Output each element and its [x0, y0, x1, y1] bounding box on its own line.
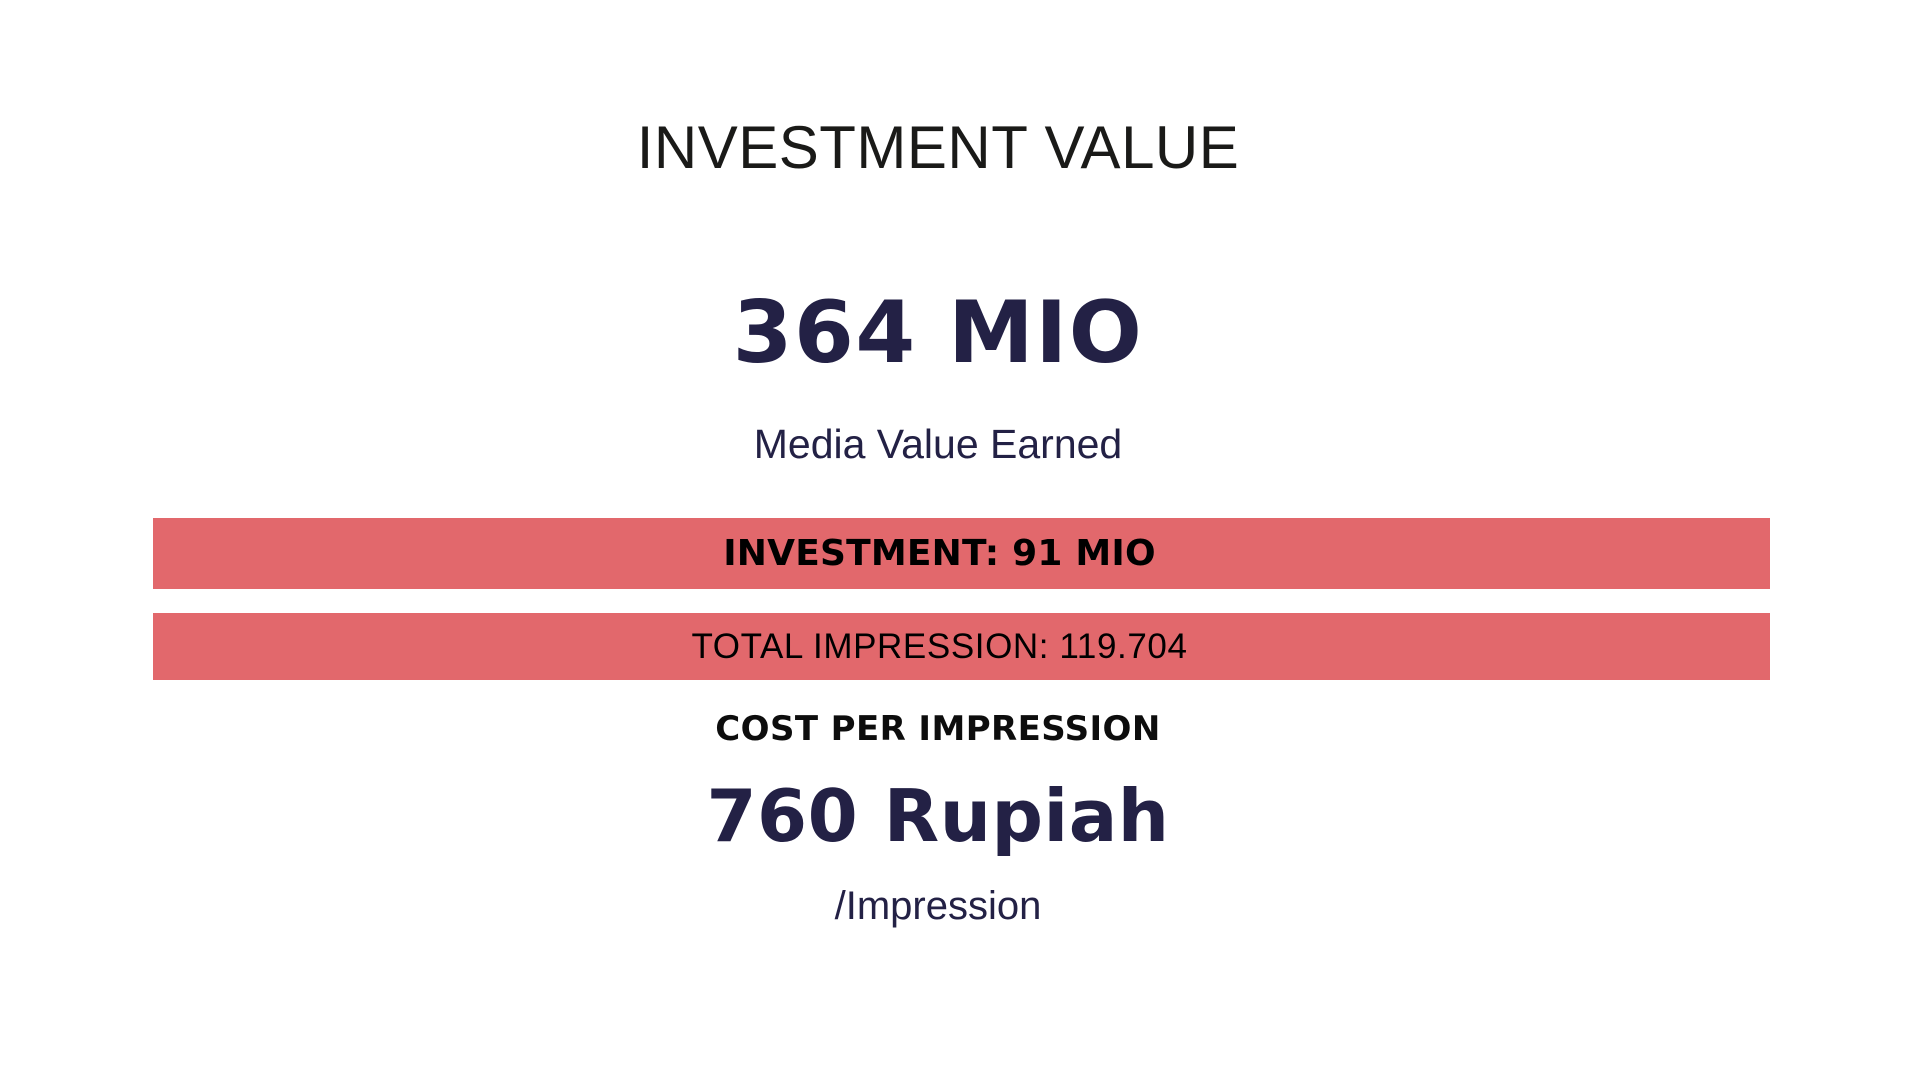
- investment-bar-label: INVESTMENT: 91 MIO: [723, 536, 1156, 572]
- total-impression-bar-label: TOTAL IMPRESSION: 119.704: [691, 629, 1187, 664]
- cost-per-impression-unit: /Impression: [0, 886, 1920, 926]
- media-value-earned-caption-text: Media Value Earned: [754, 424, 1122, 465]
- investment-value-slide: INVESTMENT VALUE 364 MIO Media Value Ear…: [0, 0, 1920, 1080]
- page-title-text: INVESTMENT VALUE: [637, 118, 1240, 178]
- media-value-earned-amount: 364 MIO: [0, 290, 1920, 376]
- page-title: INVESTMENT VALUE: [0, 118, 1920, 178]
- cost-per-impression-label: COST PER IMPRESSION: [0, 712, 1920, 746]
- investment-bar: INVESTMENT: 91 MIO: [153, 518, 1770, 589]
- cost-per-impression-value-text: 760 Rupiah: [706, 780, 1169, 852]
- cost-per-impression-unit-text: /Impression: [835, 886, 1042, 926]
- cost-per-impression-value: 760 Rupiah: [0, 780, 1920, 852]
- media-value-earned-caption: Media Value Earned: [0, 424, 1920, 465]
- cost-per-impression-label-text: COST PER IMPRESSION: [715, 712, 1160, 746]
- total-impression-bar: TOTAL IMPRESSION: 119.704: [153, 613, 1770, 680]
- media-value-earned-amount-text: 364 MIO: [733, 290, 1144, 376]
